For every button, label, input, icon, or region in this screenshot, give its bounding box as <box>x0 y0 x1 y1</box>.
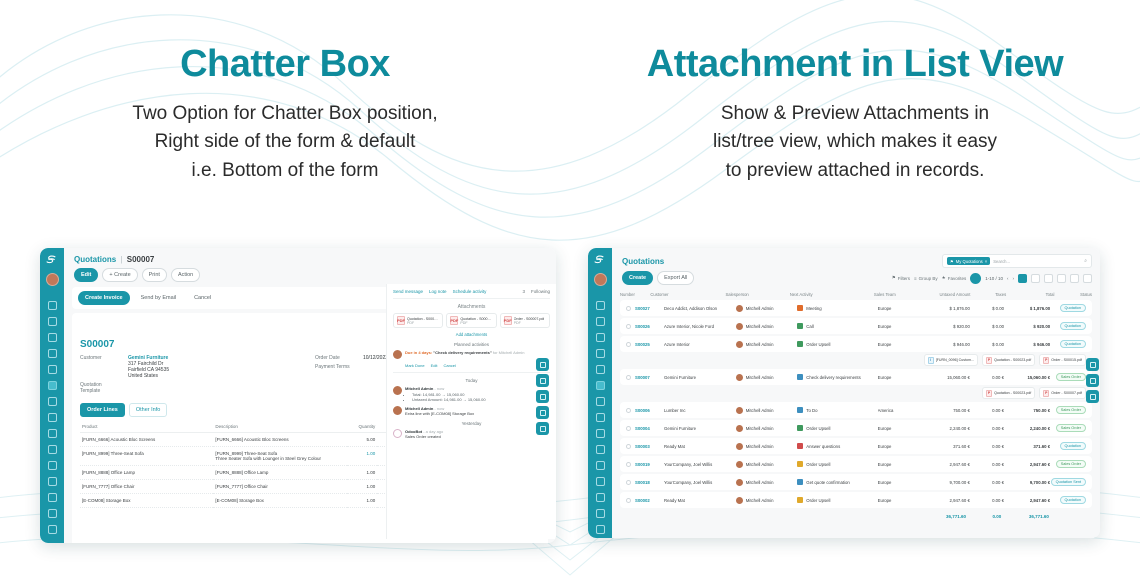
activity-type-icon <box>797 461 803 467</box>
sidebar-icon-employees[interactable] <box>48 477 57 486</box>
cell-untaxed-amount: 2,240.00 € <box>920 426 970 431</box>
cell-description: [FURN_6666] Acoustic Bloc Screens <box>213 433 346 447</box>
avatar <box>736 479 743 486</box>
row-checkbox[interactable] <box>626 408 631 413</box>
app-sidebar-right[interactable] <box>588 248 612 538</box>
cell-next-activity: To Do <box>797 407 877 413</box>
sidebar-icon-lock[interactable] <box>596 461 605 470</box>
cell-untaxed-amount: $ 1,876.00 <box>920 306 970 311</box>
attachment-list: PDFQuotation - S00023.pdfPDFPDFQuotation… <box>393 313 550 328</box>
grid-icon[interactable] <box>1086 390 1099 403</box>
sidebar-icon-grid[interactable] <box>596 413 605 422</box>
sidebar-icon-inventory[interactable] <box>48 397 57 406</box>
sidebar-icon-shield[interactable] <box>596 365 605 374</box>
planned-activities-title: Planned activities <box>393 342 550 347</box>
cell-description: [FURN_8999] Three-Seat SofaThree Seater … <box>213 447 346 466</box>
table-row[interactable]: S00027Deco Addict, Addison OlsonMitchell… <box>620 300 1092 316</box>
form-fields-left: Customer Gemini Furniture 317 Fairchild … <box>80 355 305 397</box>
list-view-icon[interactable] <box>1018 274 1027 283</box>
activity-type-icon <box>797 443 803 449</box>
avatar <box>736 323 743 330</box>
group-icon: ≡ <box>914 276 917 281</box>
sidebar-icon-contacts[interactable] <box>596 349 605 358</box>
cell-salesperson: Mitchell Admin <box>736 443 798 450</box>
cell-untaxed-amount: 750.00 € <box>920 408 970 413</box>
avatar[interactable] <box>594 273 607 286</box>
cell-product: [FURN_7777] Office Chair <box>80 480 213 494</box>
refresh-icon[interactable] <box>1086 374 1099 387</box>
sidebar-icon-person[interactable] <box>596 493 605 502</box>
search-facet[interactable]: ⚑ My Quotations × <box>947 257 990 265</box>
filters-label: Filters <box>898 276 910 281</box>
mark-done-button[interactable]: Mark Done <box>405 363 425 368</box>
avatar <box>736 374 743 381</box>
col-next-activity[interactable]: Next Activity <box>790 292 874 297</box>
chatter-box: Send message Log note Schedule activity … <box>386 284 556 539</box>
add-attachments-button[interactable]: Add attachments <box>393 332 550 337</box>
activity-type-icon <box>797 341 803 347</box>
message-author: Mitchell Admin <box>405 386 433 391</box>
schedule-activity-button[interactable]: Schedule activity <box>453 289 487 294</box>
cell-quantity: 1.00 <box>347 447 377 466</box>
cell-salesperson: Mitchell Admin <box>736 341 798 348</box>
cell-total: 750.00 € <box>1004 408 1050 413</box>
kanban-view-icon[interactable] <box>1031 274 1040 283</box>
avatar <box>393 429 402 438</box>
following-button[interactable]: Following <box>531 289 550 294</box>
cell-number: S00003 <box>635 444 650 449</box>
cell-untaxed-amount: 371.60 € <box>920 444 970 449</box>
cell-quantity: 1.00 <box>347 466 377 480</box>
avatar <box>736 407 743 414</box>
cell-customer: Azure Interior <box>664 342 736 347</box>
row-checkbox[interactable] <box>626 306 631 311</box>
list-footer-totals: 36,771.60 0.00 36,771.60 <box>612 510 1100 519</box>
footer-untaxed: 36,771.60 <box>915 514 966 519</box>
headline-column-chatter: Chatter Box Two Option for Chatter Box p… <box>0 0 570 215</box>
floating-toolbar-left <box>536 358 549 435</box>
list-panel: Quotations ⚑ My Quotations × Search... ⌕… <box>612 248 1100 538</box>
cell-total: $ 1,876.00 <box>1004 306 1050 311</box>
col-salesperson[interactable]: Salesperson <box>725 292 789 297</box>
attachment-chip[interactable]: POrder - S00015.pdf <box>1039 354 1086 366</box>
table-row[interactable]: S00019YourCompany, Joel WillisMitchell A… <box>620 456 1092 472</box>
cell-customer: Azure Interior, Nicole Ford <box>664 324 736 329</box>
attachment-name: Quotation - S00023.pdfPDF <box>407 317 439 325</box>
row-checkbox[interactable] <box>626 444 631 449</box>
cell-number: S00027 <box>635 306 650 311</box>
table-row[interactable]: S00026Azure Interior, Nicole FordMitchel… <box>620 318 1092 334</box>
attachment-name: [FURN_0096] Custom... <box>936 358 974 362</box>
page-title-attachment: Attachment in List View <box>570 44 1140 86</box>
row-checkbox[interactable] <box>626 324 631 329</box>
cell-untaxed-amount: 2,947.60 € <box>920 498 970 503</box>
status-badge: Quotation <box>1060 304 1086 312</box>
status-badge: Sales Order <box>1056 406 1086 414</box>
group-by-label: Group By <box>919 276 938 281</box>
field-label: Payment Terms <box>315 364 357 370</box>
chatter-message: OdooBot - a day agoSales Order created <box>393 429 550 439</box>
cell-customer: Ready Mat <box>664 498 736 503</box>
avatar <box>736 305 743 312</box>
cell-number: S00002 <box>635 498 650 503</box>
attachment-chip[interactable]: PDFQuotation - S00023.pdfPDF <box>393 313 443 328</box>
sidebar-icon-messages[interactable] <box>596 301 605 310</box>
create-button[interactable]: Create <box>622 271 653 285</box>
table-row[interactable]: S00007Gemini FurnitureMitchell AdminChec… <box>620 369 1092 385</box>
breadcrumb: Quotations | S00007 <box>64 248 556 268</box>
log-note-button[interactable]: Log note <box>429 289 447 294</box>
headline-band: Chatter Box Two Option for Chatter Box p… <box>0 0 1140 215</box>
col-status[interactable]: Status <box>1054 292 1092 297</box>
breadcrumb-record: S00007 <box>127 255 155 264</box>
avatar <box>736 425 743 432</box>
list-header: Quotations ⚑ My Quotations × Search... ⌕ <box>612 248 1100 271</box>
cell-untaxed-amount: 9,700.00 € <box>920 480 970 485</box>
sidebar-icon-sales[interactable] <box>48 381 57 390</box>
col-taxes[interactable]: Taxes <box>970 292 1006 297</box>
pdf-icon: PDF <box>450 316 458 325</box>
breadcrumb-root[interactable]: Quotations <box>74 255 116 264</box>
cell-salesperson: Mitchell Admin <box>736 407 798 414</box>
attachment-name: Quotation - S00010.pdfPDF <box>460 317 492 325</box>
send-message-button[interactable]: Send message <box>393 289 423 294</box>
list-rows: S00027Deco Addict, Addison OlsonMitchell… <box>612 300 1100 508</box>
camera-icon[interactable] <box>536 406 549 419</box>
cell-customer: Deco Addict, Addison Olson <box>664 306 736 311</box>
sidebar-icon-documents[interactable] <box>48 445 57 454</box>
close-icon[interactable]: × <box>985 259 987 264</box>
attachment-name: Quotation - S00023.pdf <box>994 358 1031 362</box>
attachment-chip[interactable]: PDFQuotation - S00010.pdfPDF <box>446 313 496 328</box>
activity-type-icon <box>797 305 803 311</box>
export-all-button[interactable]: Export All <box>657 271 694 285</box>
sidebar-icon-lock[interactable] <box>48 461 57 470</box>
activity-view-icon[interactable] <box>1083 274 1092 283</box>
divider <box>393 372 550 373</box>
sidebar-icon-contacts[interactable] <box>48 349 57 358</box>
cell-taxes: 0.00 € <box>970 375 1004 380</box>
sidebar-icon-grid[interactable] <box>48 413 57 422</box>
col-customer[interactable]: Customer <box>650 292 725 297</box>
status-badge: Quotation <box>1060 442 1086 450</box>
app-sidebar-left[interactable] <box>40 248 64 543</box>
attachment-name: Quotation - S00023.pdf <box>994 391 1031 395</box>
sidebar-icon-calendar[interactable] <box>48 333 57 342</box>
col-product[interactable]: Product <box>80 421 213 433</box>
avatar <box>393 386 402 395</box>
status-badge: Sales Order <box>1056 373 1086 381</box>
edit-activity-button[interactable]: Edit <box>431 363 438 368</box>
cell-next-activity: Order Upsell <box>797 461 877 467</box>
message-timestamp: - now <box>434 386 444 391</box>
cell-total: 9,700.00 € <box>1004 480 1050 485</box>
cell-quantity: 1.00 <box>347 480 377 494</box>
cell-sales-team: Europe <box>878 462 921 467</box>
attachment-chip[interactable]: I[FURN_0096] Custom... <box>924 354 978 366</box>
cancel-activity-button[interactable]: Cancel <box>443 363 455 368</box>
cell-customer: YourCompany, Joel Willis <box>664 462 736 467</box>
pager-prev-button[interactable]: ‹ <box>1007 276 1009 281</box>
favorites-label: Favorites <box>948 276 967 281</box>
pager-next-button[interactable]: › <box>1013 276 1015 281</box>
refresh-icon[interactable] <box>536 374 549 387</box>
thread-day-separator: Today <box>393 378 550 383</box>
sidebar-icon-close[interactable] <box>596 429 605 438</box>
page-title-chatter: Chatter Box <box>0 44 570 86</box>
sidebar-icon-gear[interactable] <box>48 525 57 534</box>
attachment-chip[interactable]: PQuotation - S00023.pdf <box>982 387 1035 399</box>
cell-number: S00007 <box>635 375 650 380</box>
cell-taxes: 0.00 € <box>970 480 1004 485</box>
attachments-title: Attachments <box>393 304 550 310</box>
col-untaxed-amount[interactable]: Untaxed Amount <box>919 292 971 297</box>
pdf-icon: PDF <box>504 316 512 325</box>
subtitle-line: i.e. Bottom of the form <box>0 157 570 186</box>
avatar <box>736 461 743 468</box>
status-badge: Quotation <box>1060 322 1086 330</box>
image-icon[interactable] <box>536 422 549 435</box>
subtitle-line: to preview attached in records. <box>570 157 1140 186</box>
cell-number: S00025 <box>635 342 650 347</box>
sidebar-icon-gear[interactable] <box>596 525 605 534</box>
cell-next-activity: Order Upsell <box>797 341 877 347</box>
cancel-button[interactable]: Cancel <box>187 291 218 305</box>
row-attachments: I[FURN_0096] Custom...PQuotation - S0002… <box>612 354 1100 369</box>
cell-salesperson: Mitchell Admin <box>736 497 798 504</box>
status-badge: Quotation <box>1060 340 1086 348</box>
sidebar-icon-person[interactable] <box>48 493 57 502</box>
row-checkbox[interactable] <box>626 498 631 503</box>
activity-text: Due in 4 days: "Check delivery requireme… <box>405 350 524 359</box>
cell-salesperson: Mitchell Admin <box>736 461 798 468</box>
cell-next-activity: Call <box>797 323 877 329</box>
tab-other-info[interactable]: Other Info <box>129 403 167 417</box>
print-button[interactable]: Print <box>142 268 167 282</box>
activity-assignee: for Mitchell Admin <box>493 350 525 355</box>
cell-product: [E-COM08] Storage Box <box>80 494 213 508</box>
star-icon[interactable] <box>1086 358 1099 371</box>
field-quotation-template: Quotation Template <box>80 382 305 394</box>
search-icon[interactable]: ⌕ <box>1084 258 1087 264</box>
action-button[interactable]: Action <box>171 268 200 282</box>
subtitle-line: Show & Preview Attachments in <box>570 100 1140 129</box>
avatar <box>736 341 743 348</box>
follower-count[interactable]: 3 <box>522 289 525 294</box>
form-panel: Quotations | S00007 Edit + Create Print … <box>64 248 556 543</box>
attachment-chip[interactable]: POrder - S00007.pdf <box>1039 387 1086 399</box>
field-value[interactable]: Gemini Furniture 317 Fairchild Dr Fairfi… <box>128 355 169 379</box>
sidebar-icon-employees[interactable] <box>596 477 605 486</box>
sidebar-icon-close[interactable] <box>48 429 57 438</box>
pdf-icon: P <box>986 390 992 397</box>
cell-sales-team: Europe <box>878 480 921 485</box>
cell-total: 2,947.60 € <box>1004 498 1050 503</box>
col-description[interactable]: Description <box>213 421 346 433</box>
activity-type-icon <box>797 497 803 503</box>
attachment-chip[interactable]: PQuotation - S00023.pdf <box>982 354 1035 366</box>
cell-untaxed-amount: $ 946.00 <box>920 342 970 347</box>
cell-quantity: 1.00 <box>347 494 377 508</box>
sidebar-icon-tags[interactable] <box>48 317 57 326</box>
table-row[interactable]: S00006Lumber IncMitchell AdminTo DoAmeri… <box>620 402 1092 418</box>
subtitle-line: Right side of the form & default <box>0 128 570 157</box>
cell-product: [FURN_8888] Office Lamp <box>80 466 213 480</box>
attachment-chip[interactable]: PDFOrder - S00007.pdfPDF <box>500 313 550 328</box>
message-text: Sales Order created <box>405 434 443 439</box>
cell-product: [FURN_6666] Acoustic Bloc Screens <box>80 433 213 447</box>
create-invoice-button[interactable]: Create Invoice <box>78 291 130 305</box>
floating-toolbar-right <box>1086 358 1099 403</box>
chatter-message: Mitchell Admin - nowTotal: 14,981.00 → 1… <box>393 386 550 402</box>
cell-sales-team: Europe <box>878 375 921 380</box>
row-attachments: PQuotation - S00023.pdfPOrder - S00007.p… <box>612 387 1100 402</box>
avatar[interactable] <box>46 273 59 286</box>
col-quantity[interactable]: Quantity <box>347 421 377 433</box>
graph-view-icon[interactable] <box>1070 274 1079 283</box>
table-row[interactable]: S00025Azure InteriorMitchell AdminOrder … <box>620 336 1092 352</box>
search-bar[interactable]: ⚑ My Quotations × Search... ⌕ <box>942 254 1092 268</box>
headline-column-attachment: Attachment in List View Show & Preview A… <box>570 0 1140 215</box>
sidebar-icon-tags[interactable] <box>596 317 605 326</box>
sidebar-icon-inventory[interactable] <box>596 397 605 406</box>
cell-taxes: $ 0.00 <box>970 342 1004 347</box>
table-row[interactable]: S00004Gemini FurnitureMitchell AdminOrde… <box>620 420 1092 436</box>
pager: 1-10 / 10 <box>985 276 1003 281</box>
filters-dropdown[interactable]: ⚑ Filters <box>892 275 910 281</box>
list-control-row: Create Export All ⚑ Filters ≡ Group By ★… <box>612 271 1100 289</box>
sidebar-icon-calendar[interactable] <box>596 333 605 342</box>
customer-country: United States <box>128 373 169 379</box>
activity-due: Due in 4 days: <box>405 350 432 355</box>
status-badge: Quotation <box>1060 496 1086 504</box>
cell-quantity: 5.00 <box>347 433 377 447</box>
pivot-view-icon[interactable] <box>1057 274 1066 283</box>
cell-untaxed-amount: 15,060.00 € <box>920 375 970 380</box>
cell-total: 2,240.00 € <box>1004 426 1050 431</box>
calendar-icon[interactable] <box>536 390 549 403</box>
activity-type-icon <box>797 479 803 485</box>
group-by-dropdown[interactable]: ≡ Group By <box>914 276 938 281</box>
send-by-email-button[interactable]: Send by Email <box>134 291 183 305</box>
cell-customer: Ready Mat <box>664 444 736 449</box>
attachment-name: Order - S00015.pdf <box>1051 358 1082 362</box>
chatter-thread: TodayMitchell Admin - nowTotal: 14,981.0… <box>393 378 550 439</box>
row-checkbox[interactable] <box>626 426 631 431</box>
cell-next-activity: Answer questions <box>797 443 877 449</box>
field-label: Order Date <box>315 355 357 361</box>
cell-taxes: 0.00 € <box>970 426 1004 431</box>
row-checkbox[interactable] <box>626 375 631 380</box>
sidebar-icon-messages[interactable] <box>48 301 57 310</box>
message-text: Extra line with [E-COM08] Storage Box <box>405 411 474 416</box>
row-checkbox[interactable] <box>626 462 631 467</box>
sidebar-icon-documents[interactable] <box>596 445 605 454</box>
footer-taxes: 0.00 <box>966 514 1001 519</box>
sidebar-icon-settings[interactable] <box>48 509 57 518</box>
cell-taxes: 0.00 € <box>970 498 1004 503</box>
col-total[interactable]: Total <box>1006 292 1054 297</box>
breadcrumb-separator: | <box>120 255 122 264</box>
avatar <box>736 443 743 450</box>
calendar-view-icon[interactable] <box>1044 274 1053 283</box>
status-badge: Quotation Sent <box>1051 478 1086 486</box>
search-input[interactable]: Search... <box>993 259 1081 264</box>
sidebar-icon-shield[interactable] <box>48 365 57 374</box>
chatter-actions: Send message Log note Schedule activity … <box>393 289 550 299</box>
form-view-window: Quotations | S00007 Edit + Create Print … <box>40 248 556 543</box>
table-row[interactable]: S00003Ready MatMitchell AdminAnswer ques… <box>620 438 1092 454</box>
cell-total: $ 946.00 <box>1004 342 1050 347</box>
edit-button[interactable]: Edit <box>74 268 98 282</box>
create-button[interactable]: + Create <box>102 268 137 282</box>
row-checkbox[interactable] <box>626 480 631 485</box>
cell-taxes: 0.00 € <box>970 444 1004 449</box>
table-row[interactable]: S00002Ready MatMitchell AdminOrder Upsel… <box>620 492 1092 508</box>
avatar <box>393 350 402 359</box>
activity-type-icon <box>797 323 803 329</box>
row-checkbox[interactable] <box>626 342 631 347</box>
subtitle-chatter: Two Option for Chatter Box position, Rig… <box>0 100 570 186</box>
table-row[interactable]: S00018YourCompany, Joel WillisMitchell A… <box>620 474 1092 490</box>
field-customer: Customer Gemini Furniture 317 Fairchild … <box>80 355 305 379</box>
subtitle-attachment: Show & Preview Attachments in list/tree … <box>570 100 1140 186</box>
activity-type-icon <box>797 374 803 380</box>
image-icon: I <box>928 357 934 364</box>
cell-sales-team: Europe <box>878 498 921 503</box>
activity-subject: "Check delivery requirements" <box>433 350 491 355</box>
subtitle-line: list/tree view, which makes it easy <box>570 128 1140 157</box>
sidebar-icon-sales[interactable] <box>596 381 605 390</box>
favorites-dropdown[interactable]: ★ Favorites <box>942 275 967 281</box>
tab-order-lines[interactable]: Order Lines <box>80 403 125 417</box>
attachment-name: Order - S00007.pdf <box>1051 391 1082 395</box>
cell-total: 371.60 € <box>1004 444 1050 449</box>
star-icon[interactable] <box>536 358 549 371</box>
cell-customer: YourCompany, Joel Willis <box>664 480 736 485</box>
list-view-window: Quotations ⚑ My Quotations × Search... ⌕… <box>588 248 1100 538</box>
cell-salesperson: Mitchell Admin <box>736 425 798 432</box>
page-title: Quotations <box>622 257 664 266</box>
field-label: Quotation Template <box>80 382 122 394</box>
status-badge: Sales Order <box>1056 424 1086 432</box>
cell-description: [FURN_8888] Office Lamp <box>213 466 346 480</box>
cell-total: 2,947.60 € <box>1004 462 1050 467</box>
col-sales-team[interactable]: Sales Team <box>874 292 919 297</box>
sidebar-icon-settings[interactable] <box>596 509 605 518</box>
cell-customer: Gemini Furniture <box>664 426 736 431</box>
cell-total: $ 920.00 <box>1004 324 1050 329</box>
message-bullet: Untaxed Amount: 14,981.00 → 15,060.00 <box>412 397 486 402</box>
cell-number: S00019 <box>635 462 650 467</box>
thread-day-separator: Yesterday <box>393 421 550 426</box>
app-logo-icon <box>44 253 60 269</box>
star-icon: ★ <box>942 275 946 281</box>
cell-sales-team: Europe <box>878 306 921 311</box>
cell-sales-team: Europe <box>878 426 921 431</box>
cell-customer: Lumber Inc <box>664 408 736 413</box>
filter-icon: ⚑ <box>892 275 896 281</box>
cell-description: [FURN_7777] Office Chair <box>213 480 346 494</box>
col-number[interactable]: Number <box>620 292 650 297</box>
status-badge: Sales Order <box>1056 460 1086 468</box>
cell-next-activity: Meeting <box>797 305 877 311</box>
cell-salesperson: Mitchell Admin <box>736 323 798 330</box>
cell-salesperson: Mitchell Admin <box>736 305 798 312</box>
cell-sales-team: America <box>878 408 921 413</box>
settings-icon[interactable] <box>970 273 981 284</box>
footer-total: 36,771.60 <box>1001 514 1049 519</box>
